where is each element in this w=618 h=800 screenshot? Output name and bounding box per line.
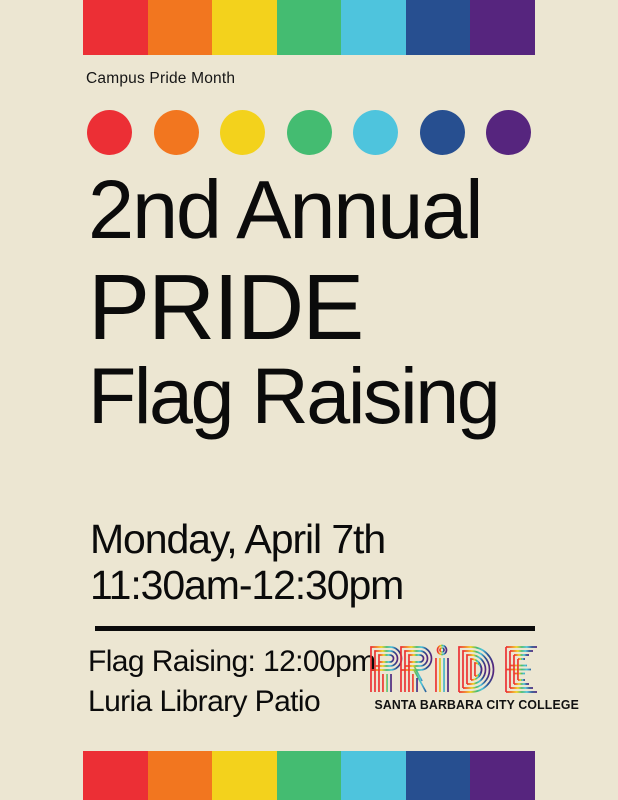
swatch-yellow xyxy=(212,751,277,800)
logo-subtitle-sbcc: SANTA BARBARA CITY COLLEGE xyxy=(374,697,546,712)
dot-blue xyxy=(420,110,465,155)
dot-cyan xyxy=(353,110,398,155)
swatch-green xyxy=(277,0,342,55)
dot-red xyxy=(87,110,132,155)
swatch-blue xyxy=(406,0,471,55)
dot-yellow xyxy=(220,110,265,155)
event-time: 11:30am-12:30pm xyxy=(90,562,403,608)
footer-text-block: Flag Raising: 12:00pm Luria Library Pati… xyxy=(88,642,376,721)
pride-wordmark-icon xyxy=(368,643,553,695)
swatch-red xyxy=(83,751,148,800)
event-datetime-block: Monday, April 7th 11:30am-12:30pm xyxy=(90,516,403,609)
swatch-yellow xyxy=(212,0,277,55)
rainbow-dot-row xyxy=(87,110,531,155)
dot-green xyxy=(287,110,332,155)
swatch-green xyxy=(277,751,342,800)
swatch-purple xyxy=(470,751,535,800)
headline-line-flag-raising: Flag Raising xyxy=(88,360,558,433)
swatch-cyan xyxy=(341,0,406,55)
event-date: Monday, April 7th xyxy=(90,516,403,562)
rainbow-bar-bottom xyxy=(83,751,535,800)
swatch-blue xyxy=(406,751,471,800)
sbcc-pride-logo: SANTA BARBARA CITY COLLEGE xyxy=(368,643,553,712)
dot-orange xyxy=(154,110,199,155)
headline-line-pride: PRIDE xyxy=(88,266,558,350)
swatch-orange xyxy=(148,751,213,800)
footer-location: Luria Library Patio xyxy=(88,682,376,722)
pride-event-poster: Campus Pride Month 2nd Annual PRIDE Flag… xyxy=(0,0,618,800)
horizontal-divider xyxy=(95,626,535,631)
swatch-purple xyxy=(470,0,535,55)
headline-line-2nd-annual: 2nd Annual xyxy=(88,172,558,248)
footer-flag-raising-detail: Flag Raising: 12:00pm xyxy=(88,642,376,682)
swatch-orange xyxy=(148,0,213,55)
swatch-red xyxy=(83,0,148,55)
rainbow-bar-top xyxy=(83,0,535,55)
dot-purple xyxy=(486,110,531,155)
headline-block: 2nd Annual PRIDE Flag Raising xyxy=(88,172,558,433)
kicker-campus-pride-month: Campus Pride Month xyxy=(86,70,235,88)
swatch-cyan xyxy=(341,751,406,800)
